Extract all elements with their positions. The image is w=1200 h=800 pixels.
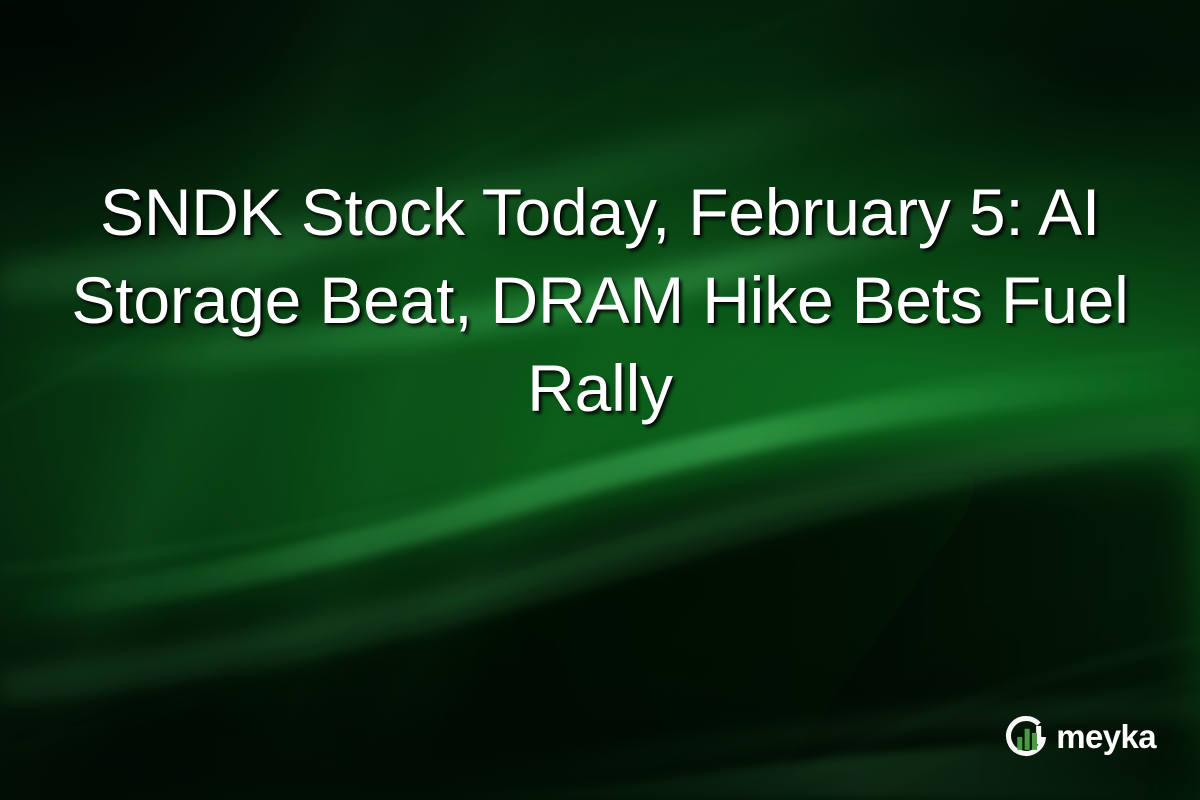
- meyka-wordmark: meyka: [1056, 720, 1156, 755]
- meyka-logo[interactable]: meyka: [1003, 714, 1156, 760]
- page-title: SNDK Stock Today, February 5: AI Storage…: [55, 168, 1145, 432]
- headline-container: SNDK Stock Today, February 5: AI Storage…: [0, 168, 1200, 432]
- meyka-bar-chart-circle-icon: [1003, 714, 1049, 760]
- banner-canvas: SNDK Stock Today, February 5: AI Storage…: [0, 0, 1200, 800]
